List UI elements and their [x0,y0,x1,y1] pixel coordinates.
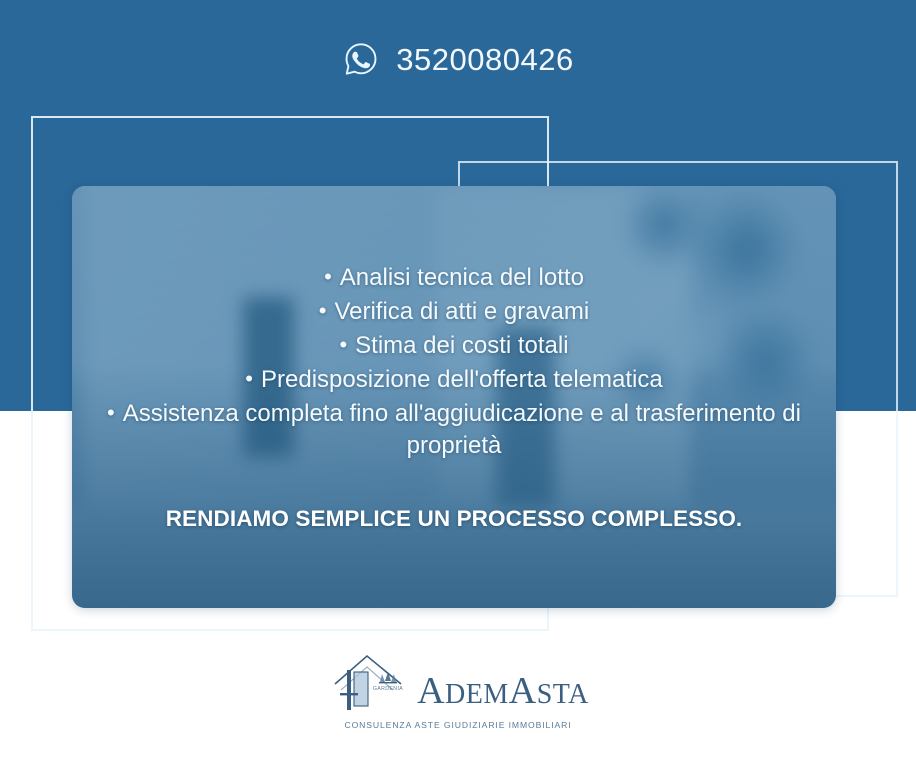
brand-name-a1: A [417,670,445,712]
services-list: Analisi tecnica del lotto Verifica di at… [106,262,802,463]
brand-tagline: CONSULENZA ASTE GIUDIZIARIE IMMOBILIARI [344,720,571,730]
promo-poster: 3520080426 Analisi tecnica del lotto Ver… [0,0,916,768]
list-item: Predisposizione dell'offerta telematica [106,364,802,396]
list-item: Stima dei costi totali [106,330,802,362]
brand-name-dem: DEM [445,679,509,710]
brand-name-a2: A [509,670,537,712]
brand-name-sta: STA [537,679,589,710]
house-logo-icon: GARDENIA [327,650,415,714]
list-item: Assistenza completa fino all'aggiudicazi… [106,398,802,462]
logo-badge-text: GARDENIA [373,686,403,692]
content-card: Analisi tecnica del lotto Verifica di at… [72,186,836,608]
whatsapp-icon[interactable] [342,40,380,78]
list-item: Analisi tecnica del lotto [106,262,802,294]
contact-header: 3520080426 [0,36,916,82]
brand-logo: GARDENIA ADEMASTA CONSULENZA ASTE GIUDIZ… [0,650,916,730]
logo-row: GARDENIA ADEMASTA [327,650,589,714]
phone-number[interactable]: 3520080426 [396,44,573,75]
card-content: Analisi tecnica del lotto Verifica di at… [72,186,836,608]
list-item: Verifica di atti e gravami [106,296,802,328]
tagline: RENDIAMO SEMPLICE UN PROCESSO COMPLESSO. [166,506,743,532]
brand-wordmark: ADEMASTA [417,672,589,710]
